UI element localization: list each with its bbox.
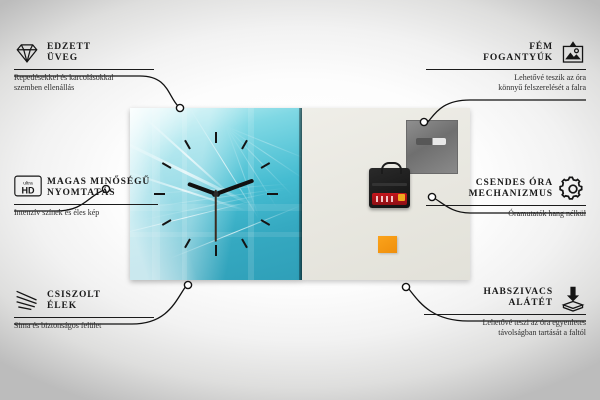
divider	[424, 314, 586, 315]
callout-subtitle-line1: Repedésekkel és karcolásokkal	[14, 73, 114, 82]
callout-csiszolt-elek: CSISZOLT ÉLEK Sima és biztonságos felüle…	[14, 288, 154, 331]
divider	[14, 204, 158, 205]
callout-title-line2: ÜVEG	[47, 53, 78, 63]
polished-edges-icon	[14, 288, 40, 314]
callout-title-line1: CSENDES ÓRA	[476, 178, 553, 188]
foam-pad-icon	[560, 285, 586, 311]
product-photo	[130, 108, 470, 280]
callout-subtitle-line1: Sima és biztonságos felület	[14, 321, 101, 330]
callout-title-line1: FÉM	[529, 42, 553, 52]
divider	[14, 317, 154, 318]
hour-marker	[162, 219, 172, 226]
divider	[14, 69, 154, 70]
hour-marker	[215, 132, 217, 143]
divider	[426, 69, 586, 70]
battery-compartment	[372, 193, 407, 205]
callout-title-line2: MECHANIZMUS	[469, 189, 553, 199]
callout-subtitle-line1: Lehetővé teszi az óra egyenletes	[483, 318, 587, 327]
callout-subtitle-line2: könnyű felszerelését a falra	[498, 83, 586, 92]
callout-title-line1: HABSZIVACS	[483, 287, 553, 297]
callout-fem-fogantyuk: FÉM FOGANTYÚK Lehetővé teszik az óra kön…	[426, 40, 586, 93]
callout-title-line1: CSISZOLT	[47, 290, 101, 300]
picture-hanger-icon	[560, 40, 586, 66]
callout-subtitle-line1: Intenzív színek és éles kép	[14, 208, 99, 217]
callout-magas-minosegu-nyomtatas: ultra HD MAGAS MINŐSÉGŰ NYOMTATÁS Intenz…	[14, 175, 158, 218]
callout-title-line2: ALÁTÉT	[509, 298, 553, 308]
callout-subtitle-line2: szemben ellenállás	[14, 83, 74, 92]
callout-subtitle-line1: Óramutatók hang nélkül	[508, 209, 586, 218]
callout-title-line1: EDZETT	[47, 42, 91, 52]
callout-subtitle-line1: Lehetővé teszik az óra	[514, 73, 586, 82]
gear-icon	[560, 176, 586, 202]
hour-marker	[215, 245, 217, 256]
callout-csendes-ora-mechanizmus: CSENDES ÓRA MECHANIZMUS Óramutatók hang …	[426, 176, 586, 219]
ultra-hd-big-label: HD	[21, 185, 35, 195]
callout-subtitle-line2: távolságban tartását a faltól	[498, 328, 586, 337]
infographic-canvas: EDZETT ÜVEG Repedésekkel és karcolásokka…	[0, 0, 600, 400]
callout-title-line2: NYOMTATÁS	[47, 188, 115, 198]
quiet-clock-mechanism	[369, 168, 410, 208]
foam-spacer-pad	[378, 236, 397, 253]
callout-title-line2: FOGANTYÚK	[483, 53, 553, 63]
callout-title-line2: ÉLEK	[47, 301, 77, 311]
hour-marker	[241, 239, 248, 249]
ultra-hd-icon: ultra HD	[14, 175, 40, 201]
divider	[426, 205, 586, 206]
callout-edzett-uveg: EDZETT ÜVEG Repedésekkel és karcolásokka…	[14, 40, 154, 93]
metal-hanger-plate	[406, 120, 458, 174]
hour-marker	[267, 193, 278, 195]
callout-habszivacs-alatet: HABSZIVACS ALÁTÉT Lehetővé teszi az óra …	[424, 285, 586, 338]
second-hand	[215, 190, 217, 242]
diamond-icon	[14, 40, 40, 66]
clock-center-pin	[214, 192, 219, 197]
callout-title-line1: MAGAS MINŐSÉGŰ	[47, 177, 150, 187]
